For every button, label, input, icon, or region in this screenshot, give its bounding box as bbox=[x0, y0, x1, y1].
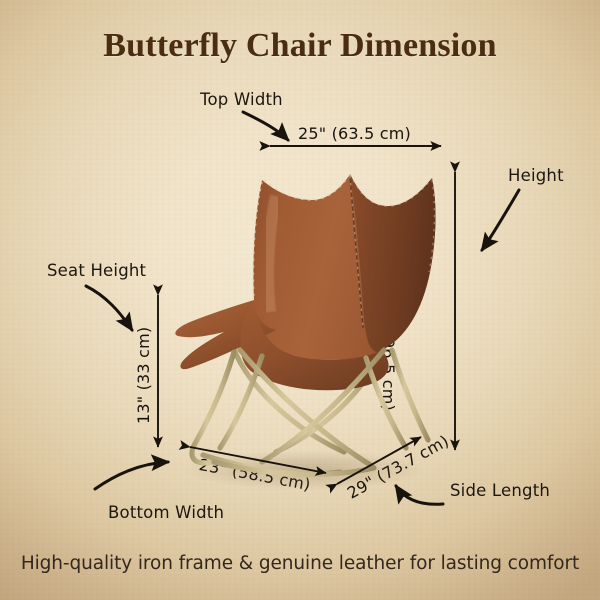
seat-height-callout-arrow bbox=[86, 286, 132, 330]
top-width-callout-arrow bbox=[243, 112, 288, 140]
infographic-canvas: Butterfly Chair Dimension Top Width 25" … bbox=[0, 0, 600, 600]
side-length-dimension-line bbox=[337, 437, 421, 484]
side-length-callout-arrow bbox=[396, 486, 443, 504]
height-callout-arrow bbox=[482, 190, 519, 250]
bottom-width-callout-arrow bbox=[95, 462, 168, 489]
dimension-annotations bbox=[0, 0, 600, 600]
bottom-width-dimension-line bbox=[190, 447, 326, 473]
